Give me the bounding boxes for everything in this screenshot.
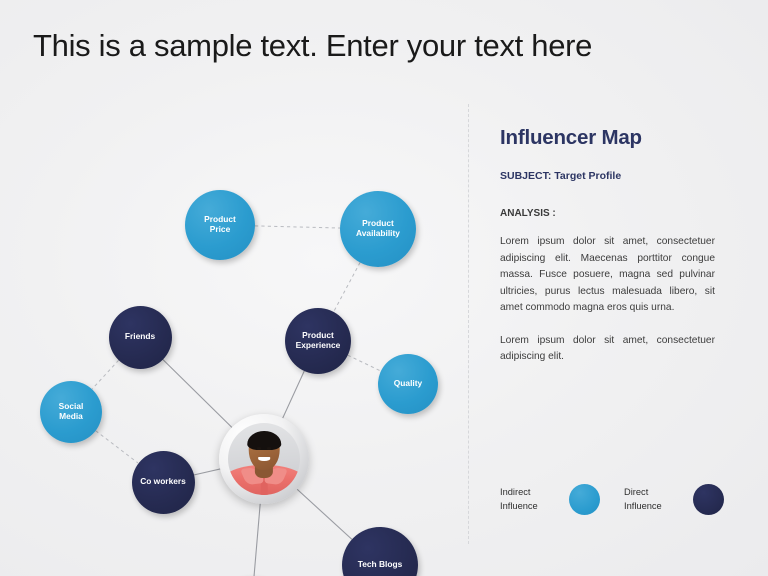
map-node-label-product-price: ProductPrice: [204, 215, 236, 235]
map-node-label-product-availability: ProductAvailability: [356, 219, 400, 239]
portrait-eye-left-shape: [257, 447, 261, 449]
legend-label-direct-line2: Influence: [624, 501, 662, 511]
legend-label-direct-line1: Direct: [624, 487, 648, 497]
influencer-map-diagram: ProductPriceProductAvailabilityFriendsPr…: [0, 88, 470, 576]
map-node-label-co-workers: Co workers: [140, 477, 186, 487]
map-node-product-price[interactable]: ProductPrice: [185, 190, 255, 260]
map-node-social-media[interactable]: SocialMedia: [40, 381, 102, 443]
panel-paragraph-2: Lorem ipsum dolor sit amet, consectetuer…: [500, 333, 715, 366]
legend-label-direct: Direct Influence: [624, 486, 686, 513]
legend-label-indirect-line2: Influence: [500, 501, 538, 511]
legend-label-indirect: Indirect Influence: [500, 486, 562, 513]
panel-paragraph-1: Lorem ipsum dolor sit amet, consectetuer…: [500, 234, 715, 317]
map-node-quality[interactable]: Quality: [378, 354, 438, 414]
map-node-label-quality: Quality: [394, 379, 422, 389]
legend-swatch-direct-icon: [693, 484, 724, 515]
analysis-panel: Influencer Map SUBJECT: Target Profile A…: [500, 126, 715, 382]
map-node-product-availability[interactable]: ProductAvailability: [340, 191, 416, 267]
map-connector-edges: [0, 88, 470, 576]
map-node-product-experience[interactable]: ProductExperience: [285, 308, 351, 374]
map-node-co-workers[interactable]: Co workers: [132, 451, 195, 514]
map-node-label-product-experience: ProductExperience: [296, 331, 341, 351]
map-node-friends[interactable]: Friends: [109, 306, 172, 369]
map-node-label-friends: Friends: [125, 332, 155, 342]
legend: Indirect Influence Direct Influence: [500, 484, 725, 515]
map-node-label-social-media: SocialMedia: [59, 402, 84, 422]
map-edge-product-price-to-product-availability: [255, 226, 340, 228]
legend-item-direct-influence: Direct Influence: [624, 484, 724, 515]
panel-heading: Influencer Map: [500, 126, 715, 150]
portrait-eye-right-shape: [267, 447, 271, 449]
map-edge-friends-to-social-media: [92, 360, 119, 389]
legend-label-indirect-line1: Indirect: [500, 487, 531, 497]
portrait-hair-shape: [247, 431, 281, 450]
target-profile-photo: [228, 423, 301, 496]
avatar[interactable]: [219, 414, 309, 504]
map-edge-product-availability-to-product-experience: [334, 262, 360, 311]
map-edge-friends-to-avatar: [162, 359, 237, 433]
panel-analysis-label: ANALYSIS :: [500, 208, 715, 219]
map-edge-social-media-to-co-workers: [96, 431, 138, 463]
map-edge-attends-conferences-to-avatar: [254, 496, 261, 576]
vertical-divider: [468, 104, 469, 544]
panel-subject: SUBJECT: Target Profile: [500, 170, 715, 182]
legend-item-indirect-influence: Indirect Influence: [500, 484, 624, 515]
map-node-label-tech-blogs: Tech Blogs: [358, 560, 403, 570]
legend-swatch-indirect-icon: [569, 484, 600, 515]
page-title: This is a sample text. Enter your text h…: [33, 28, 592, 64]
map-edge-product-experience-to-quality: [348, 355, 381, 371]
